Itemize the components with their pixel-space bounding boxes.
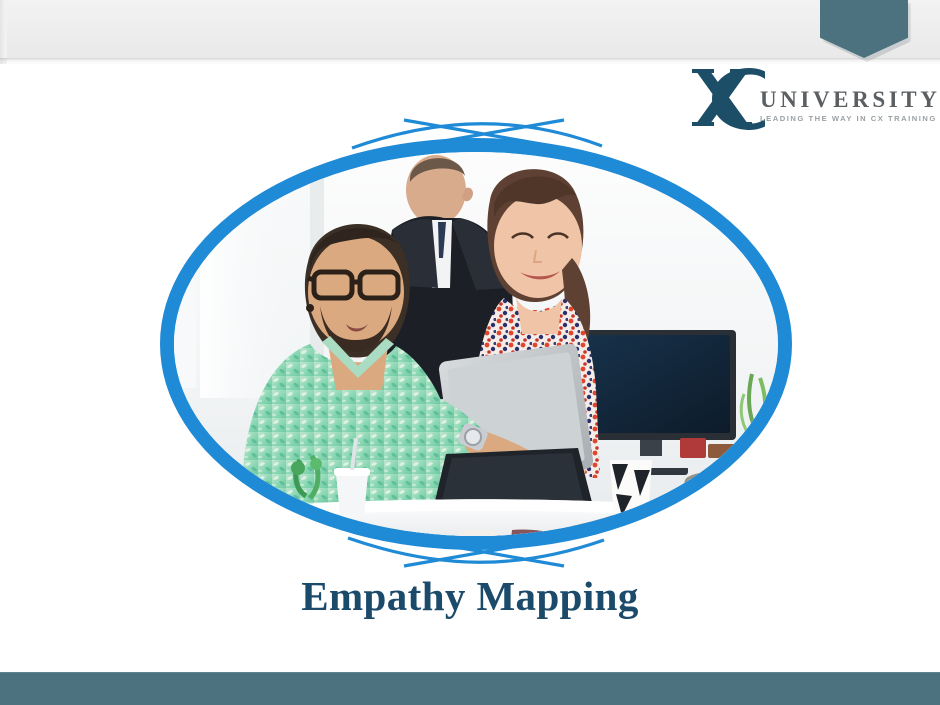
photo-stage [152,108,796,578]
team-collaboration-photo [160,138,792,550]
photo-ellipse-frame [160,138,792,550]
page-title: Empathy Mapping [0,572,940,620]
header-band [0,0,940,58]
header-band-left-edge [0,0,7,64]
slide-canvas: UNIVERSITY LEADING THE WAY IN CX TRAININ… [0,0,940,705]
footer-bar [0,673,940,705]
patterned-mug [610,460,652,518]
